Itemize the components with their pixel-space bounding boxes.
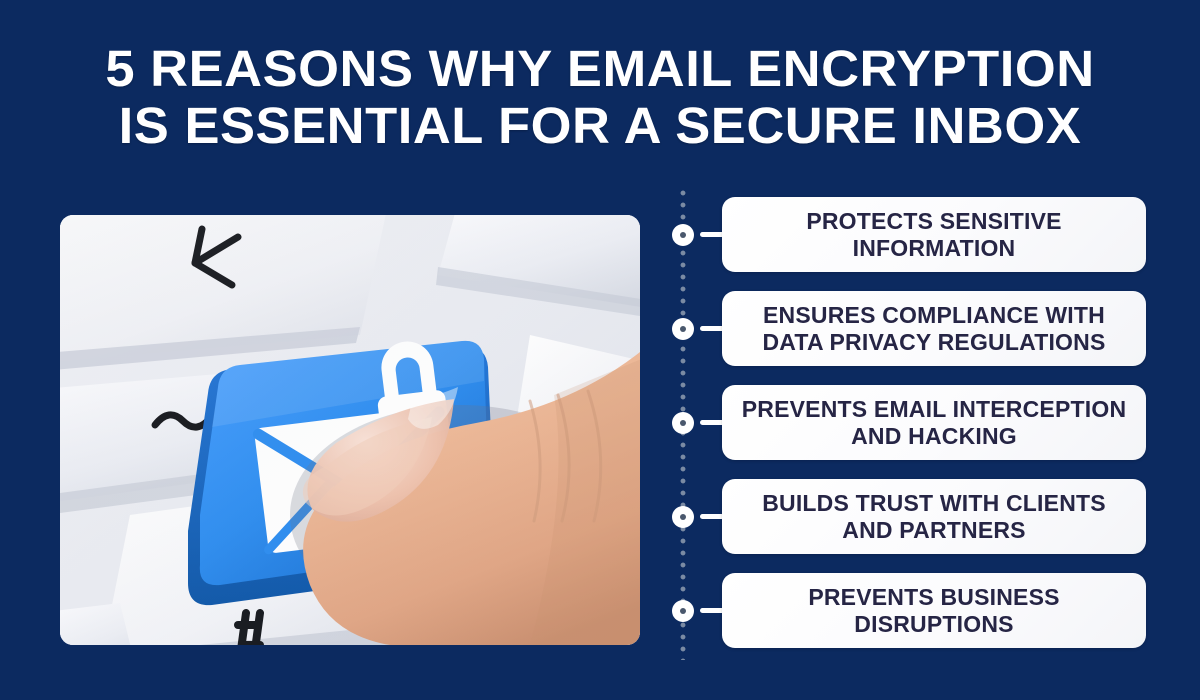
reason-row-1[interactable]: PROTECTS SENSITIVE INFORMATION [666,197,1146,272]
timeline-marker-icon [672,224,694,246]
keyboard-illustration: 4 [60,215,640,645]
reason-row-4[interactable]: BUILDS TRUST WITH CLIENTS AND PARTNERS [666,479,1146,554]
page-title-line-2: IS ESSENTIAL FOR A SECURE INBOX [0,97,1200,154]
timeline-marker-icon [672,600,694,622]
reason-row-5[interactable]: PREVENTS BUSINESS DISRUPTIONS [666,573,1146,648]
reason-row-2[interactable]: ENSURES COMPLIANCE WITH DATA PRIVACY REG… [666,291,1146,366]
reason-label-3: PREVENTS EMAIL INTERCEPTION AND HACKING [736,396,1132,450]
reason-label-4: BUILDS TRUST WITH CLIENTS AND PARTNERS [736,490,1132,544]
reason-card-5[interactable]: PREVENTS BUSINESS DISRUPTIONS [722,573,1146,648]
reason-card-4[interactable]: BUILDS TRUST WITH CLIENTS AND PARTNERS [722,479,1146,554]
timeline-marker-icon [672,412,694,434]
timeline-marker-icon [672,318,694,340]
reason-label-5: PREVENTS BUSINESS DISRUPTIONS [736,584,1132,638]
keyboard-photo: 4 [60,215,640,645]
page-title: 5 REASONS WHY EMAIL ENCRYPTION IS ESSENT… [0,40,1200,154]
reason-card-1[interactable]: PROTECTS SENSITIVE INFORMATION [722,197,1146,272]
reason-label-2: ENSURES COMPLIANCE WITH DATA PRIVACY REG… [736,302,1132,356]
reason-card-3[interactable]: PREVENTS EMAIL INTERCEPTION AND HACKING [722,385,1146,460]
reason-row-3[interactable]: PREVENTS EMAIL INTERCEPTION AND HACKING [666,385,1146,460]
reason-card-2[interactable]: ENSURES COMPLIANCE WITH DATA PRIVACY REG… [722,291,1146,366]
page-title-line-1: 5 REASONS WHY EMAIL ENCRYPTION [0,40,1200,97]
reason-label-1: PROTECTS SENSITIVE INFORMATION [736,208,1132,262]
timeline-marker-icon [672,506,694,528]
